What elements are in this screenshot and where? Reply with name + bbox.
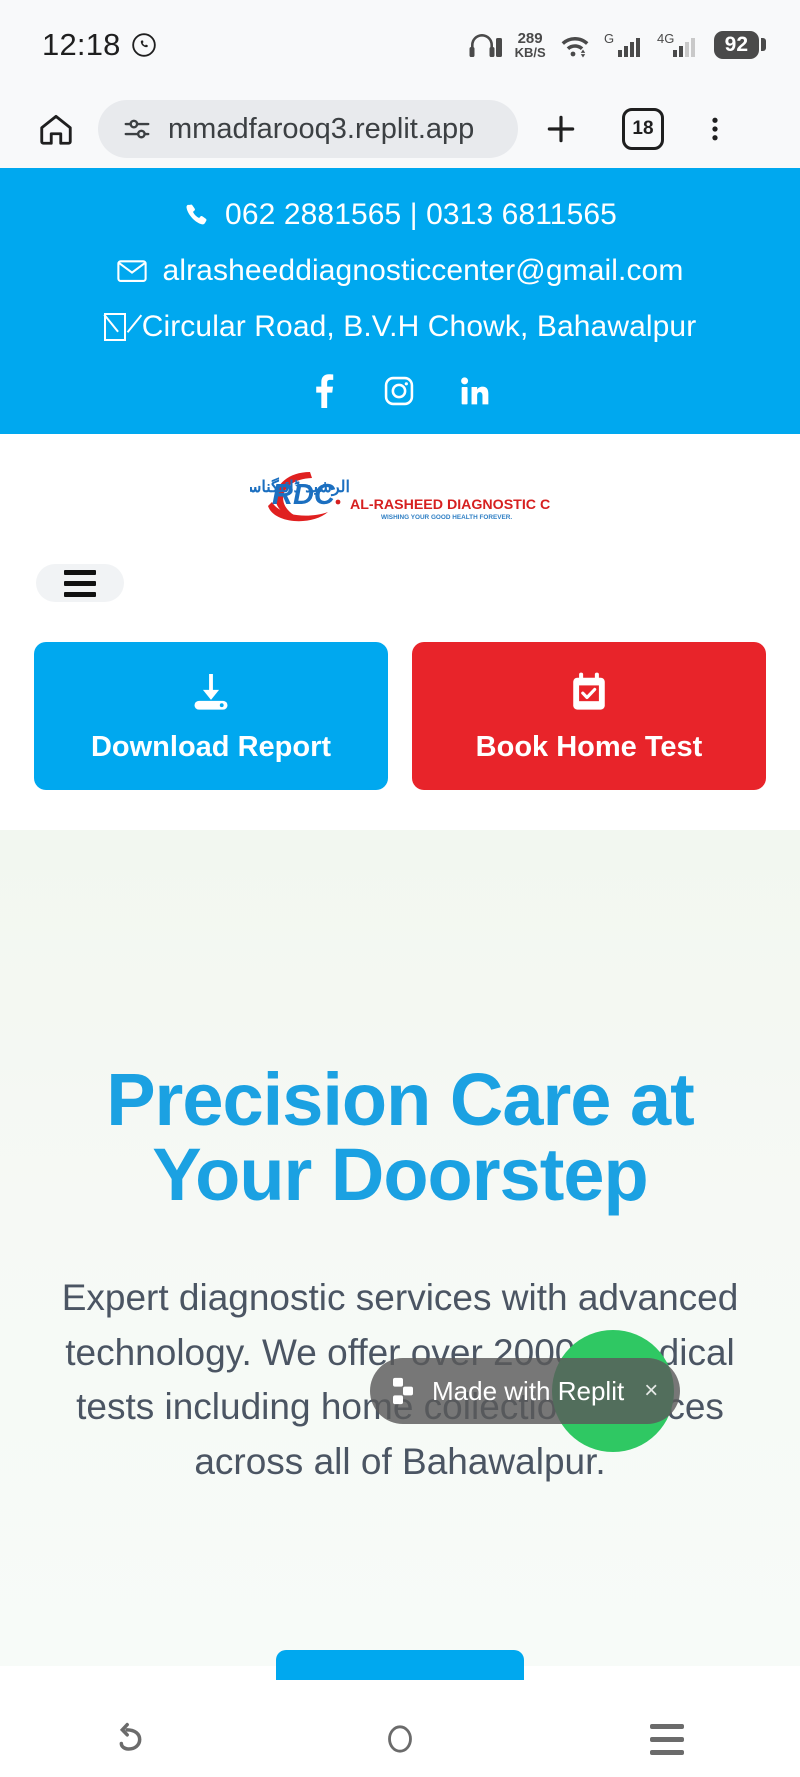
status-bar-left: 12:18 xyxy=(42,27,157,63)
made-with-replit-badge[interactable]: Made with Replit × xyxy=(370,1358,680,1424)
site-contact-bar: 062 2881565 | 0313 6811565 alrasheeddiag… xyxy=(0,168,800,434)
facebook-icon[interactable] xyxy=(309,374,339,408)
download-icon xyxy=(187,669,235,715)
url-bar[interactable]: mmadfarooq3.replit.app xyxy=(98,100,518,158)
download-report-button[interactable]: Download Report xyxy=(34,642,388,790)
recents-bar xyxy=(650,1724,684,1729)
clock: 12:18 xyxy=(42,27,121,63)
site-logo[interactable]: RDC الرشید ڈائیگناسٹک سنٹر AL-RASHEED DI… xyxy=(250,464,550,526)
download-report-label: Download Report xyxy=(91,731,331,764)
social-links xyxy=(309,374,491,408)
instagram-icon[interactable] xyxy=(383,374,415,408)
home-icon[interactable] xyxy=(26,110,86,148)
network-speed-indicator: 289 KB/S xyxy=(515,31,546,60)
envelope-icon xyxy=(117,258,147,284)
hamburger-menu-icon[interactable] xyxy=(36,564,124,602)
book-home-test-button[interactable]: Book Home Test xyxy=(412,642,766,790)
logo-tagline: WISHING YOUR GOOD HEALTH FOREVER. xyxy=(381,514,512,521)
battery-indicator: 92 xyxy=(714,31,766,59)
hamburger-bar xyxy=(64,570,96,575)
status-bar-right: 289 KB/S G xyxy=(468,31,766,60)
battery-level: 92 xyxy=(714,31,759,59)
calendar-check-icon xyxy=(567,669,611,715)
recents-bar xyxy=(650,1737,684,1742)
replit-logo-icon xyxy=(390,1376,416,1406)
book-home-test-label: Book Home Test xyxy=(476,731,703,764)
more-vertical-icon[interactable] xyxy=(686,110,744,148)
status-bar: 12:18 289 KB/S xyxy=(0,0,800,90)
android-navigation-bar xyxy=(0,1701,800,1777)
network-speed-unit: KB/S xyxy=(515,46,546,59)
made-with-replit-label: Made with Replit xyxy=(432,1376,624,1407)
location-missing-glyph-icon xyxy=(104,313,126,341)
signal-4g-icon: 4G xyxy=(657,31,701,59)
signal-g-icon: G xyxy=(604,31,644,59)
recents-bar xyxy=(650,1750,684,1755)
svg-text:4G: 4G xyxy=(657,31,674,46)
tab-counter-button[interactable]: 18 xyxy=(604,108,682,150)
recents-icon[interactable] xyxy=(607,1724,727,1755)
back-icon[interactable] xyxy=(73,1719,193,1759)
tab-count[interactable]: 18 xyxy=(622,108,664,150)
home-circle-icon[interactable] xyxy=(340,1719,460,1759)
site-logo-container: RDC الرشید ڈائیگناسٹک سنٹر AL-RASHEED DI… xyxy=(0,434,800,542)
contact-phone[interactable]: 062 2881565 | 0313 6811565 xyxy=(183,198,617,232)
contact-email-text: alrasheeddiagnosticcenter@gmail.com xyxy=(163,254,684,288)
headphone-icon xyxy=(468,31,502,59)
site-nav-row xyxy=(0,542,800,620)
contact-email[interactable]: alrasheeddiagnosticcenter@gmail.com xyxy=(117,254,684,288)
plus-icon[interactable] xyxy=(522,109,600,149)
site-settings-icon[interactable] xyxy=(122,114,152,144)
browser-toolbar: mmadfarooq3.replit.app 18 xyxy=(0,90,800,168)
network-speed-value: 289 xyxy=(518,31,543,46)
hero-cta-button[interactable] xyxy=(276,1650,524,1680)
contact-address: Circular Road, B.V.H Chowk, Bahawalpur xyxy=(104,310,697,344)
logo-name: AL-RASHEED DIAGNOSTIC CENTER xyxy=(350,497,550,513)
svg-text:G: G xyxy=(604,31,614,46)
whatsapp-icon xyxy=(131,32,157,58)
linkedin-icon[interactable] xyxy=(459,374,491,408)
phone-icon xyxy=(183,202,209,228)
hamburger-bar xyxy=(64,581,96,586)
logo-urdu-text: الرشید ڈائیگناسٹک سنٹر xyxy=(250,477,350,497)
url-text[interactable]: mmadfarooq3.replit.app xyxy=(168,113,474,146)
wifi-icon xyxy=(559,31,591,59)
hamburger-bar xyxy=(64,592,96,597)
phone-screen: 12:18 289 KB/S xyxy=(0,0,800,1777)
contact-address-text: Circular Road, B.V.H Chowk, Bahawalpur xyxy=(142,310,697,344)
quick-actions: Download Report Book Home Test xyxy=(0,620,800,830)
close-icon[interactable]: × xyxy=(644,1377,658,1405)
hero-heading: Precision Care at Your Doorstep xyxy=(30,1062,770,1213)
battery-tip xyxy=(761,38,766,51)
contact-phone-text: 062 2881565 | 0313 6811565 xyxy=(225,198,617,232)
hero-section: Precision Care at Your Doorstep Expert d… xyxy=(0,830,800,1666)
